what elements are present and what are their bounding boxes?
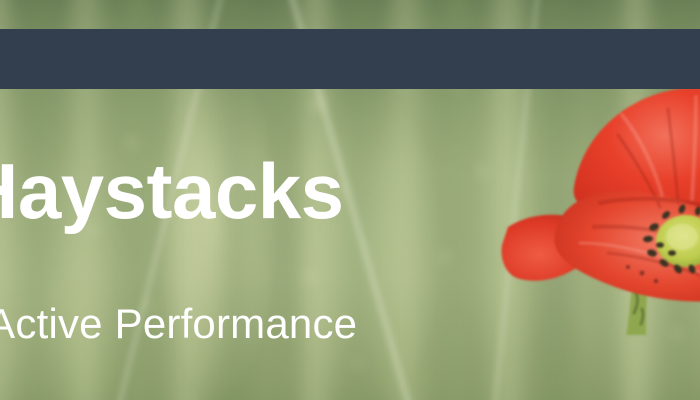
poppy-flower: [500, 75, 700, 335]
top-navigation-bar[interactable]: [0, 29, 700, 89]
hero-banner: Haystacks for Active Performance: [0, 0, 700, 400]
